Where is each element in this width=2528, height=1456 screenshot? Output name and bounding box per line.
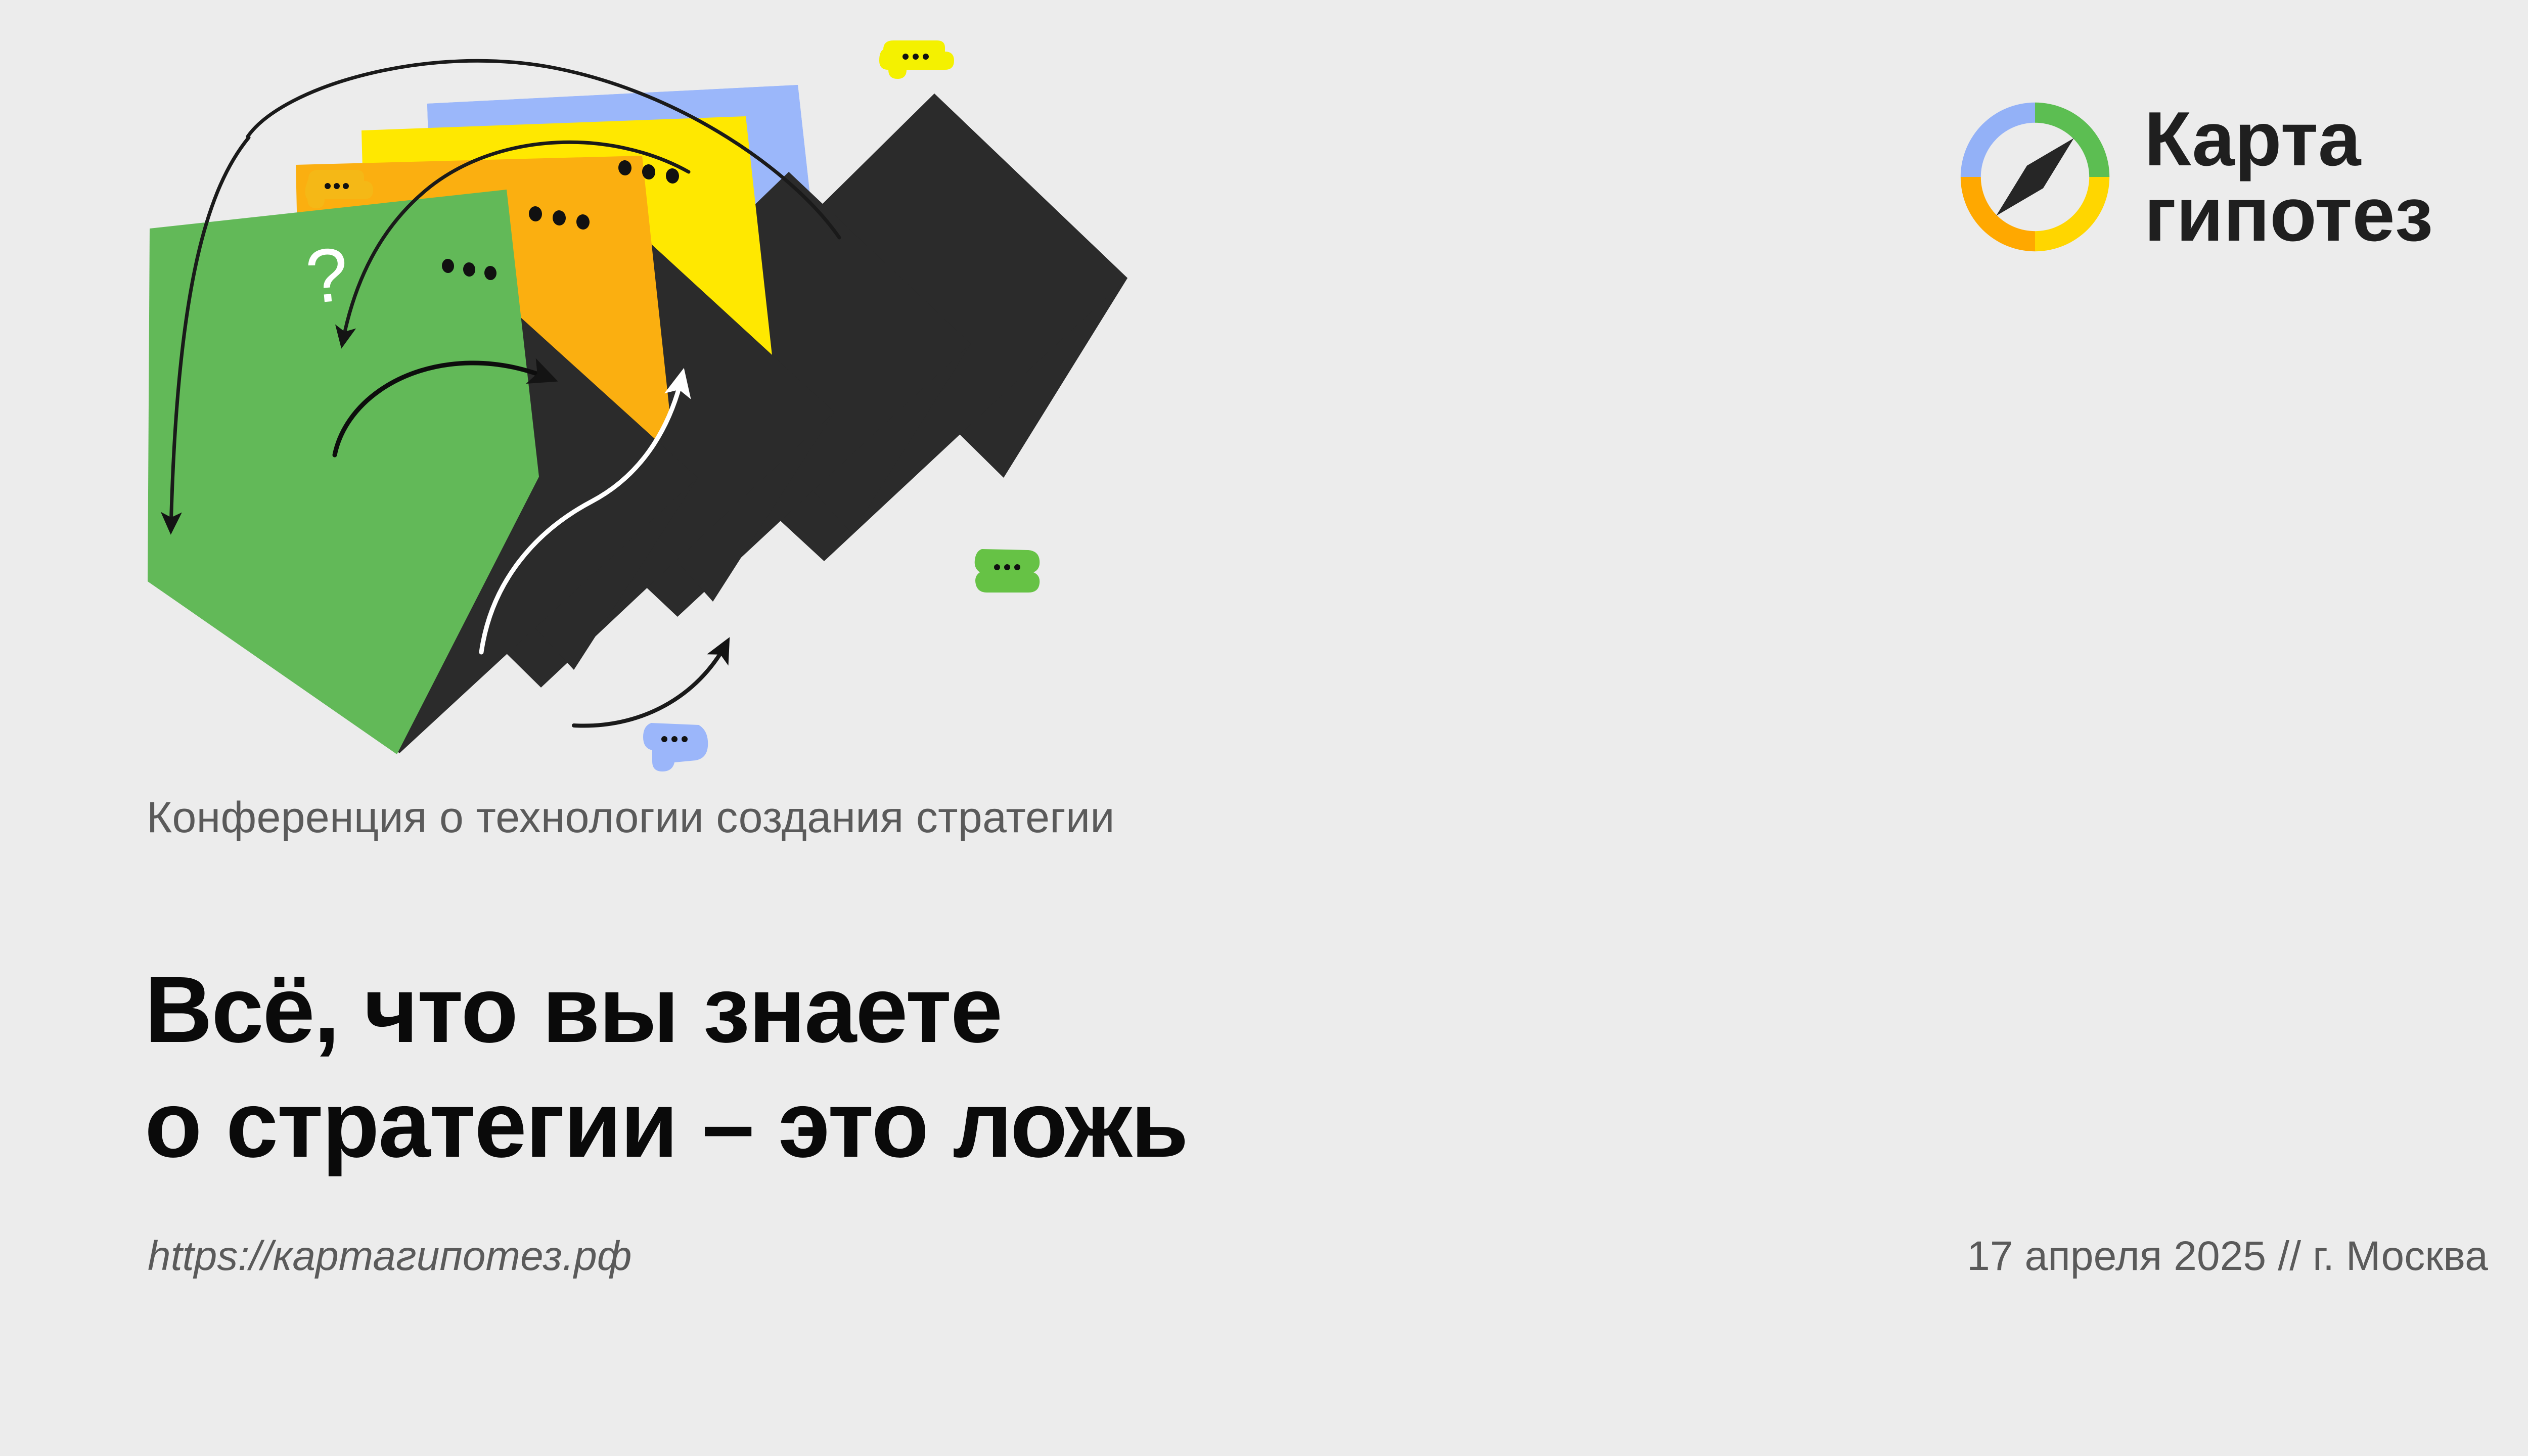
headline-line-1: Всё, что вы знаете [145, 953, 1188, 1068]
bubble-green [975, 549, 1040, 593]
page-title: Всё, что вы знаете о стратегии – это лож… [145, 953, 1188, 1182]
brand-logo-lockup[interactable]: Карта гипотез [1954, 96, 2433, 258]
bubble-yellow [879, 40, 954, 79]
stacked-hypothesis-cards-illustration: ? [116, 20, 1244, 809]
date-location: 17 апреля 2025 // г. Москва [1967, 1233, 2488, 1280]
arrow-bottom-right-up [574, 642, 727, 726]
brand-word-bottom: гипотез [2144, 177, 2433, 252]
brand-wordmark: Карта гипотез [2144, 102, 2433, 252]
headline-line-2: о стратегии – это ложь [145, 1068, 1188, 1182]
poster-canvas: ? [0, 0, 2528, 1456]
conference-kicker: Конференция о технологии создания страте… [147, 793, 1115, 843]
brand-word-top: Карта [2144, 102, 2433, 177]
question-mark-glyph: ? [302, 231, 352, 320]
bubble-blue [643, 723, 708, 771]
compass-ring-icon [1954, 96, 2116, 258]
site-url[interactable]: https://картагипотез.рф [148, 1233, 632, 1280]
